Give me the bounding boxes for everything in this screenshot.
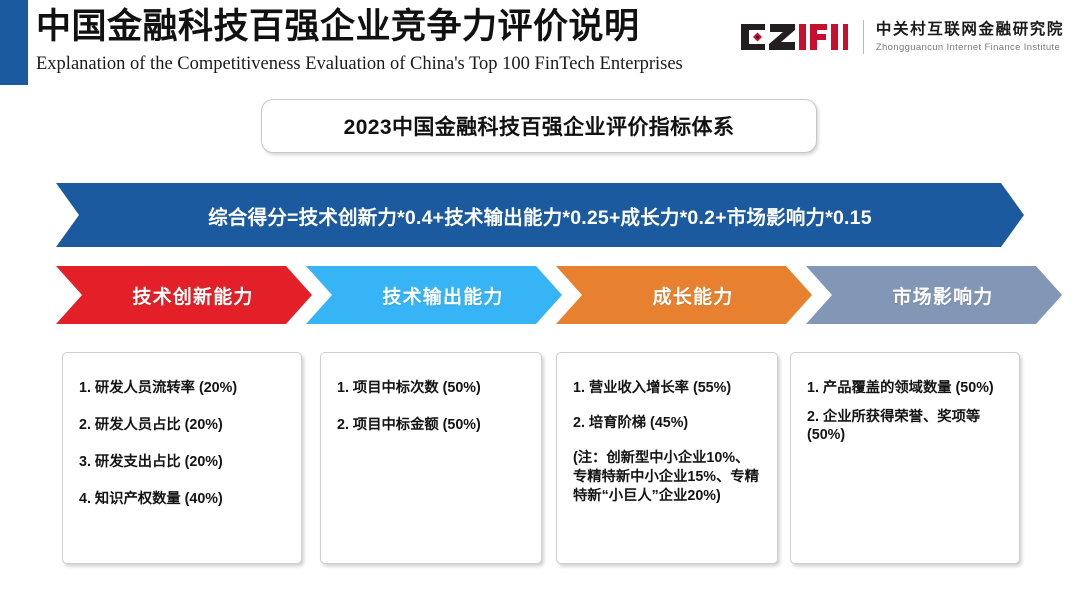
logo-name-cn: 中关村互联网金融研究院: [876, 21, 1064, 39]
indicator-item: 2. 企业所获得荣誉、奖项等 (50%): [807, 408, 1005, 444]
indicator-system-title: 2023中国金融科技百强企业评价指标体系: [344, 111, 735, 141]
czifi-logomark-icon: [739, 22, 851, 52]
slide-root: 中国金融科技百强企业竞争力评价说明 Explanation of the Com…: [0, 0, 1080, 608]
card-market-influence: 1. 产品覆盖的领域数量 (50%) 2. 企业所获得荣誉、奖项等 (50%): [790, 352, 1020, 564]
chevron-label: 技术输出能力: [364, 282, 503, 309]
indicator-card-row: 1. 研发人员流转率 (20%) 2. 研发人员占比 (20%) 3. 研发支出…: [0, 352, 1080, 564]
logo-name-en: Zhongguancun Internet Finance Institute: [876, 41, 1064, 54]
score-formula-banner: 综合得分=技术创新力*0.4+技术输出能力*0.25+成长力*0.2+市场影响力…: [56, 183, 1024, 247]
header-accent-bar: [0, 0, 28, 85]
card-growth: 1. 营业收入增长率 (55%) 2. 培育阶梯 (45%) (注：创新型中小企…: [556, 352, 778, 564]
chevron-market-influence[interactable]: 市场影响力: [806, 266, 1062, 324]
chevron-growth[interactable]: 成长能力: [556, 266, 812, 324]
logo-text-block: 中关村互联网金融研究院 Zhongguancun Internet Financ…: [876, 21, 1064, 54]
page-title-en: Explanation of the Competitiveness Evalu…: [36, 51, 683, 77]
indicator-item: 1. 研发人员流转率 (20%): [79, 379, 287, 397]
indicator-note: (注：创新型中小企业10%、专精特新中小企业15%、专精特新“小巨人”企业20%…: [573, 449, 763, 506]
indicator-item: 2. 项目中标金额 (50%): [337, 416, 527, 434]
card-tech-innovation: 1. 研发人员流转率 (20%) 2. 研发人员占比 (20%) 3. 研发支出…: [62, 352, 302, 564]
slide-header: 中国金融科技百强企业竞争力评价说明 Explanation of the Com…: [0, 0, 1080, 88]
chevron-tech-innovation[interactable]: 技术创新能力: [56, 266, 312, 324]
card-tech-output: 1. 项目中标次数 (50%) 2. 项目中标金额 (50%): [320, 352, 542, 564]
indicator-item: 1. 产品覆盖的领域数量 (50%): [807, 379, 1005, 397]
chevron-tech-output[interactable]: 技术输出能力: [306, 266, 562, 324]
logo-divider: [863, 20, 864, 54]
indicator-item: 3. 研发支出占比 (20%): [79, 453, 287, 471]
chevron-label: 成长能力: [635, 282, 734, 309]
indicator-item: 2. 研发人员占比 (20%): [79, 416, 287, 434]
brand-logo: 中关村互联网金融研究院 Zhongguancun Internet Financ…: [739, 14, 1064, 60]
header-title-block: 中国金融科技百强企业竞争力评价说明 Explanation of the Com…: [36, 4, 683, 77]
indicator-item: 1. 项目中标次数 (50%): [337, 379, 527, 397]
indicator-item: 1. 营业收入增长率 (55%): [573, 379, 763, 397]
chevron-label: 技术创新能力: [114, 282, 253, 309]
page-title-cn: 中国金融科技百强企业竞争力评价说明: [36, 4, 683, 50]
score-formula-text: 综合得分=技术创新力*0.4+技术输出能力*0.25+成长力*0.2+市场影响力…: [208, 201, 872, 230]
indicator-item: 4. 知识产权数量 (40%): [79, 490, 287, 508]
indicator-item: 2. 培育阶梯 (45%): [573, 414, 763, 432]
dimension-chevron-row: 技术创新能力 技术输出能力 成长能力 市场影响力: [56, 266, 1024, 324]
chevron-label: 市场影响力: [874, 282, 993, 309]
indicator-system-title-box: 2023中国金融科技百强企业评价指标体系: [261, 99, 817, 153]
